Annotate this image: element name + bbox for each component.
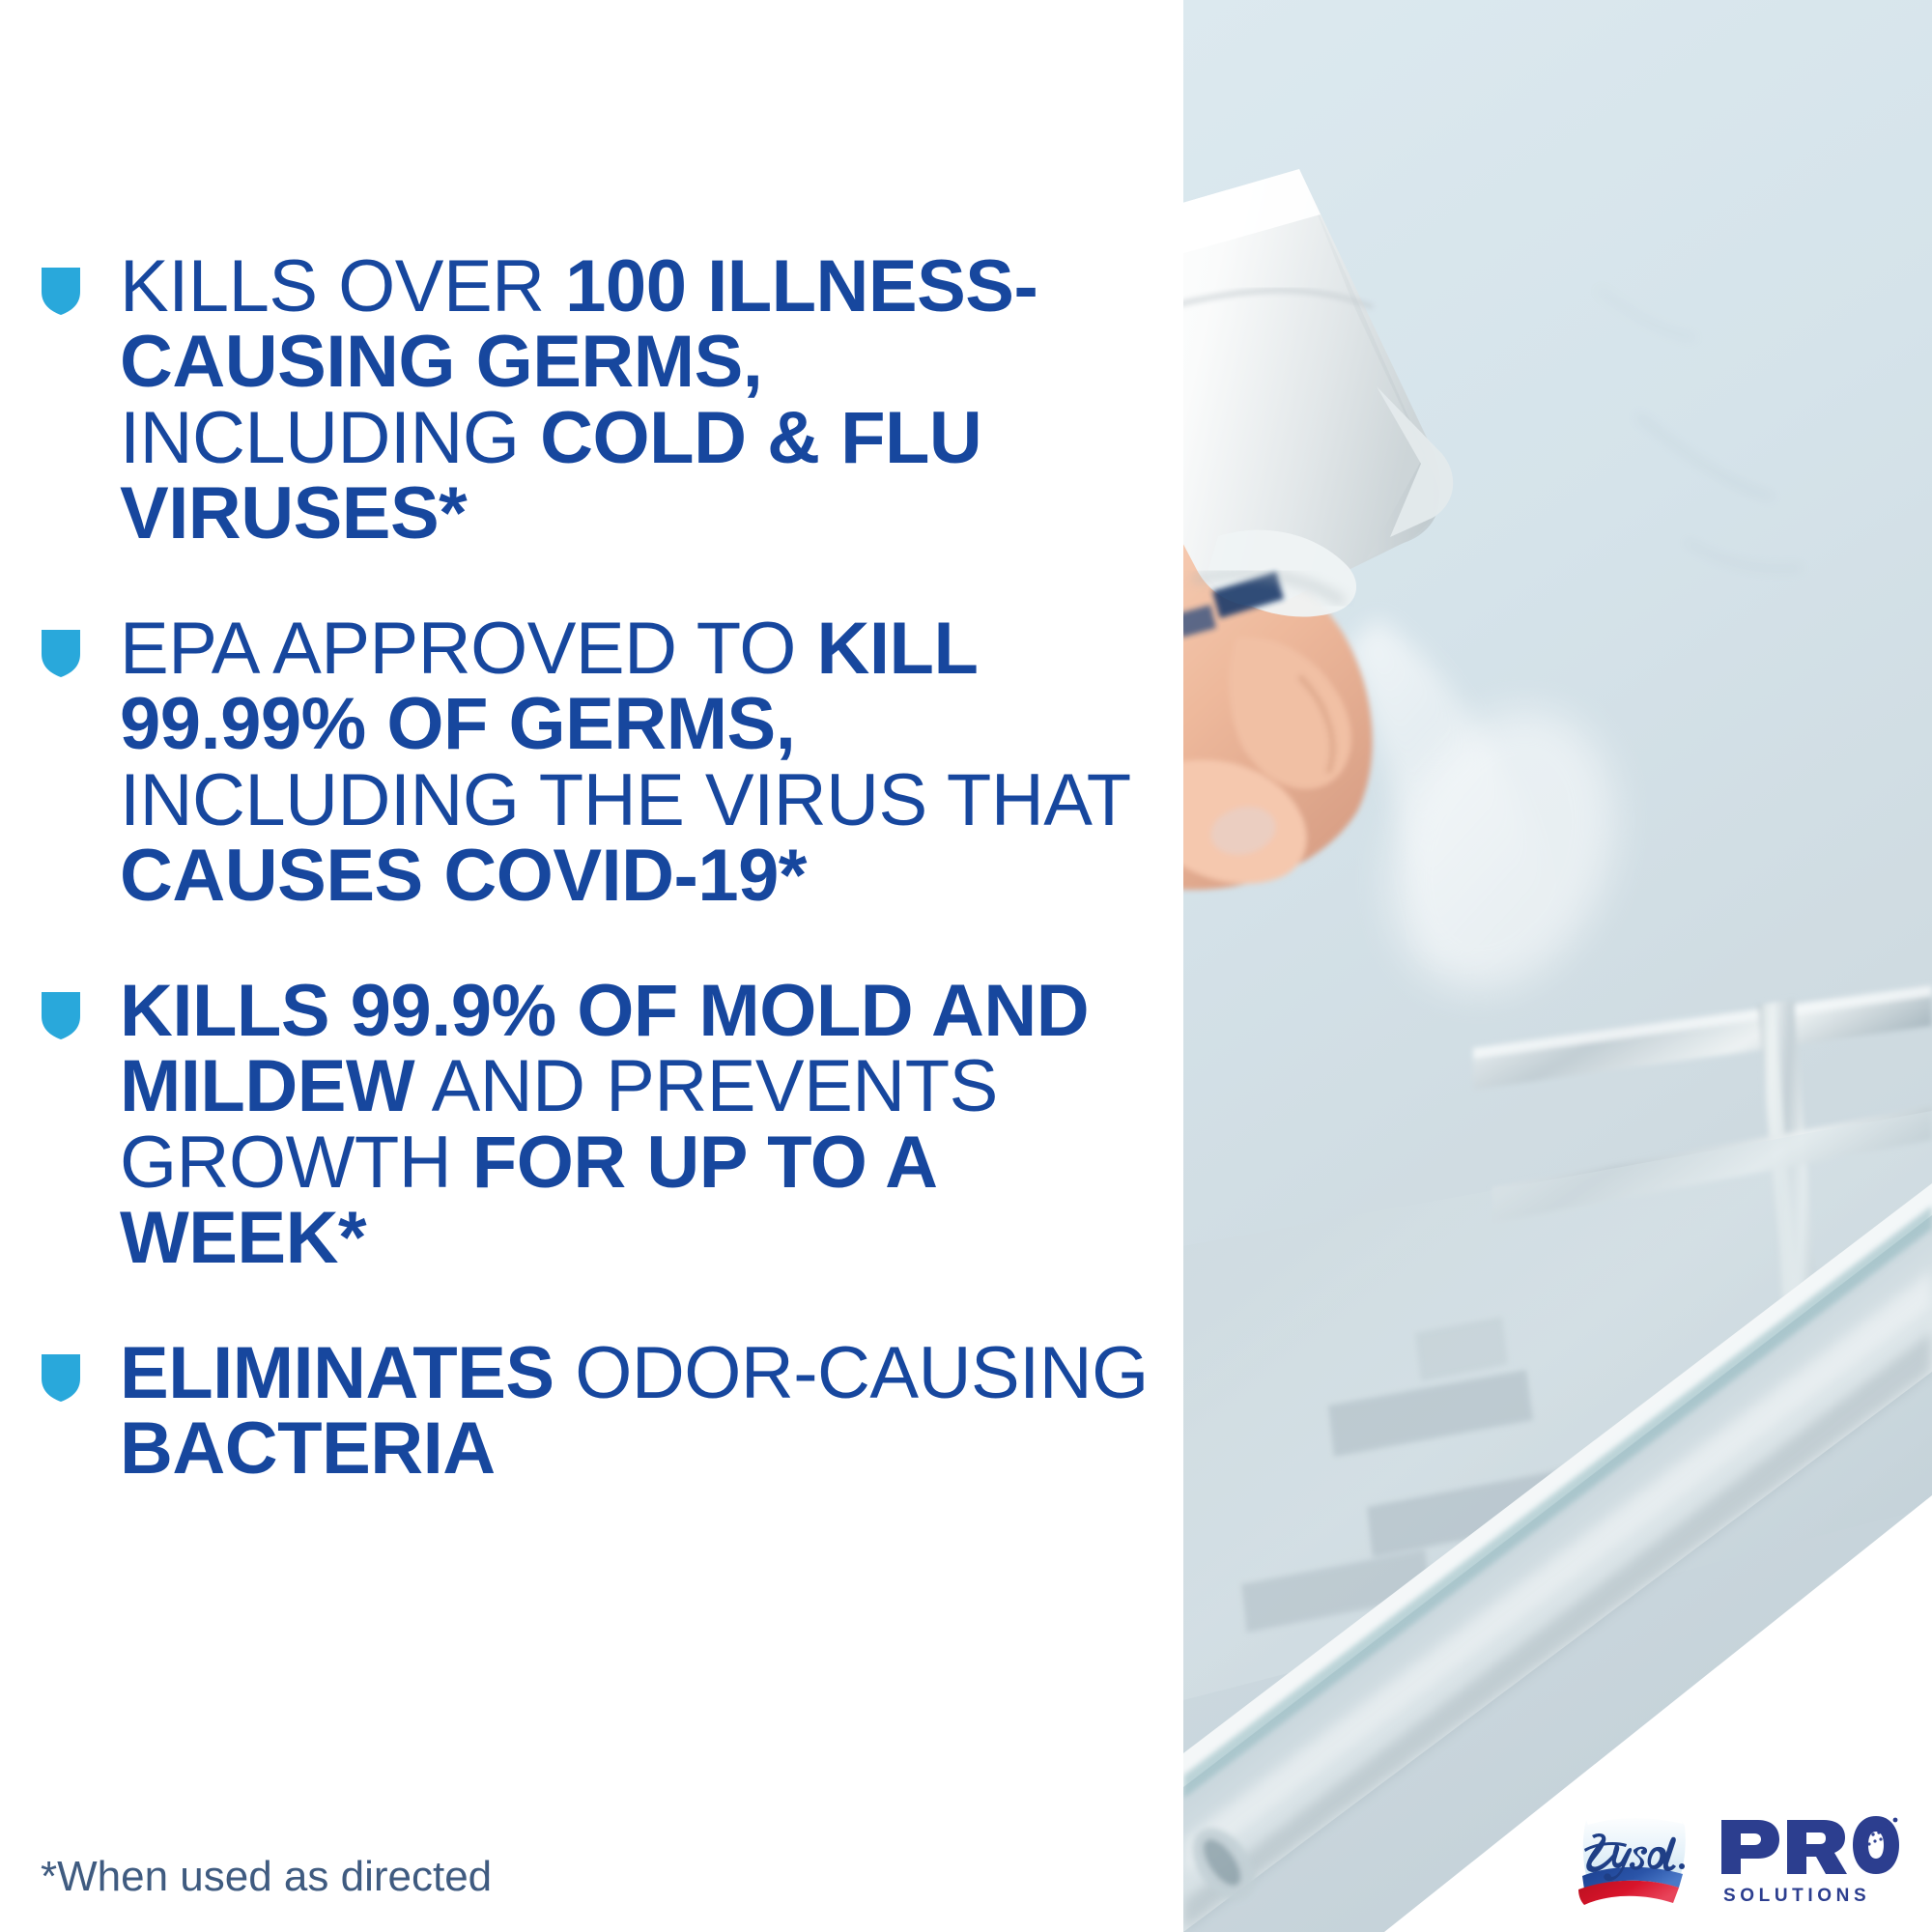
benefit-segment: INCLUDING THE VIRUS THAT xyxy=(120,759,1129,841)
benefit-item: ELIMINATES ODOR-CAUSING BACTERIA xyxy=(39,1336,1150,1488)
benefit-text: ELIMINATES ODOR-CAUSING BACTERIA xyxy=(120,1336,1150,1488)
pro-solutions-logo: SOLUTIONS xyxy=(1716,1814,1899,1907)
benefits-list: KILLS OVER 100 ILLNESS-CAUSING GERMS, IN… xyxy=(39,249,1150,1548)
svg-text:SOLUTIONS: SOLUTIONS xyxy=(1723,1886,1870,1906)
benefit-text: EPA APPROVED TO KILL 99.99% OF GERMS, IN… xyxy=(120,611,1150,914)
shield-icon xyxy=(39,1336,83,1404)
benefit-item: KILLS OVER 100 ILLNESS-CAUSING GERMS, IN… xyxy=(39,249,1150,552)
benefit-text: KILLS OVER 100 ILLNESS-CAUSING GERMS, IN… xyxy=(120,249,1150,552)
benefit-segment-bold: ELIMINATES xyxy=(120,1332,554,1414)
lysol-logo xyxy=(1573,1810,1700,1911)
benefit-segment: KILLS OVER xyxy=(120,245,565,327)
brand-logo-lockup: SOLUTIONS xyxy=(1573,1808,1901,1913)
shield-icon xyxy=(39,974,83,1041)
benefit-item: KILLS 99.9% OF MOLD AND MILDEW AND PREVE… xyxy=(39,974,1150,1276)
benefit-segment-bold: BACTERIA xyxy=(120,1407,496,1490)
shield-icon xyxy=(39,249,83,317)
product-usage-photo xyxy=(1183,0,1932,1932)
lysol-pro-benefits-poster: KILLS OVER 100 ILLNESS-CAUSING GERMS, IN… xyxy=(0,0,1932,1932)
benefit-segment: EPA APPROVED TO xyxy=(120,608,817,690)
benefits-panel: KILLS OVER 100 ILLNESS-CAUSING GERMS, IN… xyxy=(0,0,1183,1932)
footnote-disclaimer: *When used as directed xyxy=(41,1853,492,1901)
benefit-text: KILLS 99.9% OF MOLD AND MILDEW AND PREVE… xyxy=(120,974,1150,1276)
benefit-segment: ODOR-CAUSING xyxy=(554,1332,1149,1414)
benefit-segment-bold: CAUSES COVID-19* xyxy=(120,835,807,917)
shield-icon xyxy=(39,611,83,679)
benefit-item: EPA APPROVED TO KILL 99.99% OF GERMS, IN… xyxy=(39,611,1150,914)
benefit-segment: INCLUDING xyxy=(120,397,540,479)
